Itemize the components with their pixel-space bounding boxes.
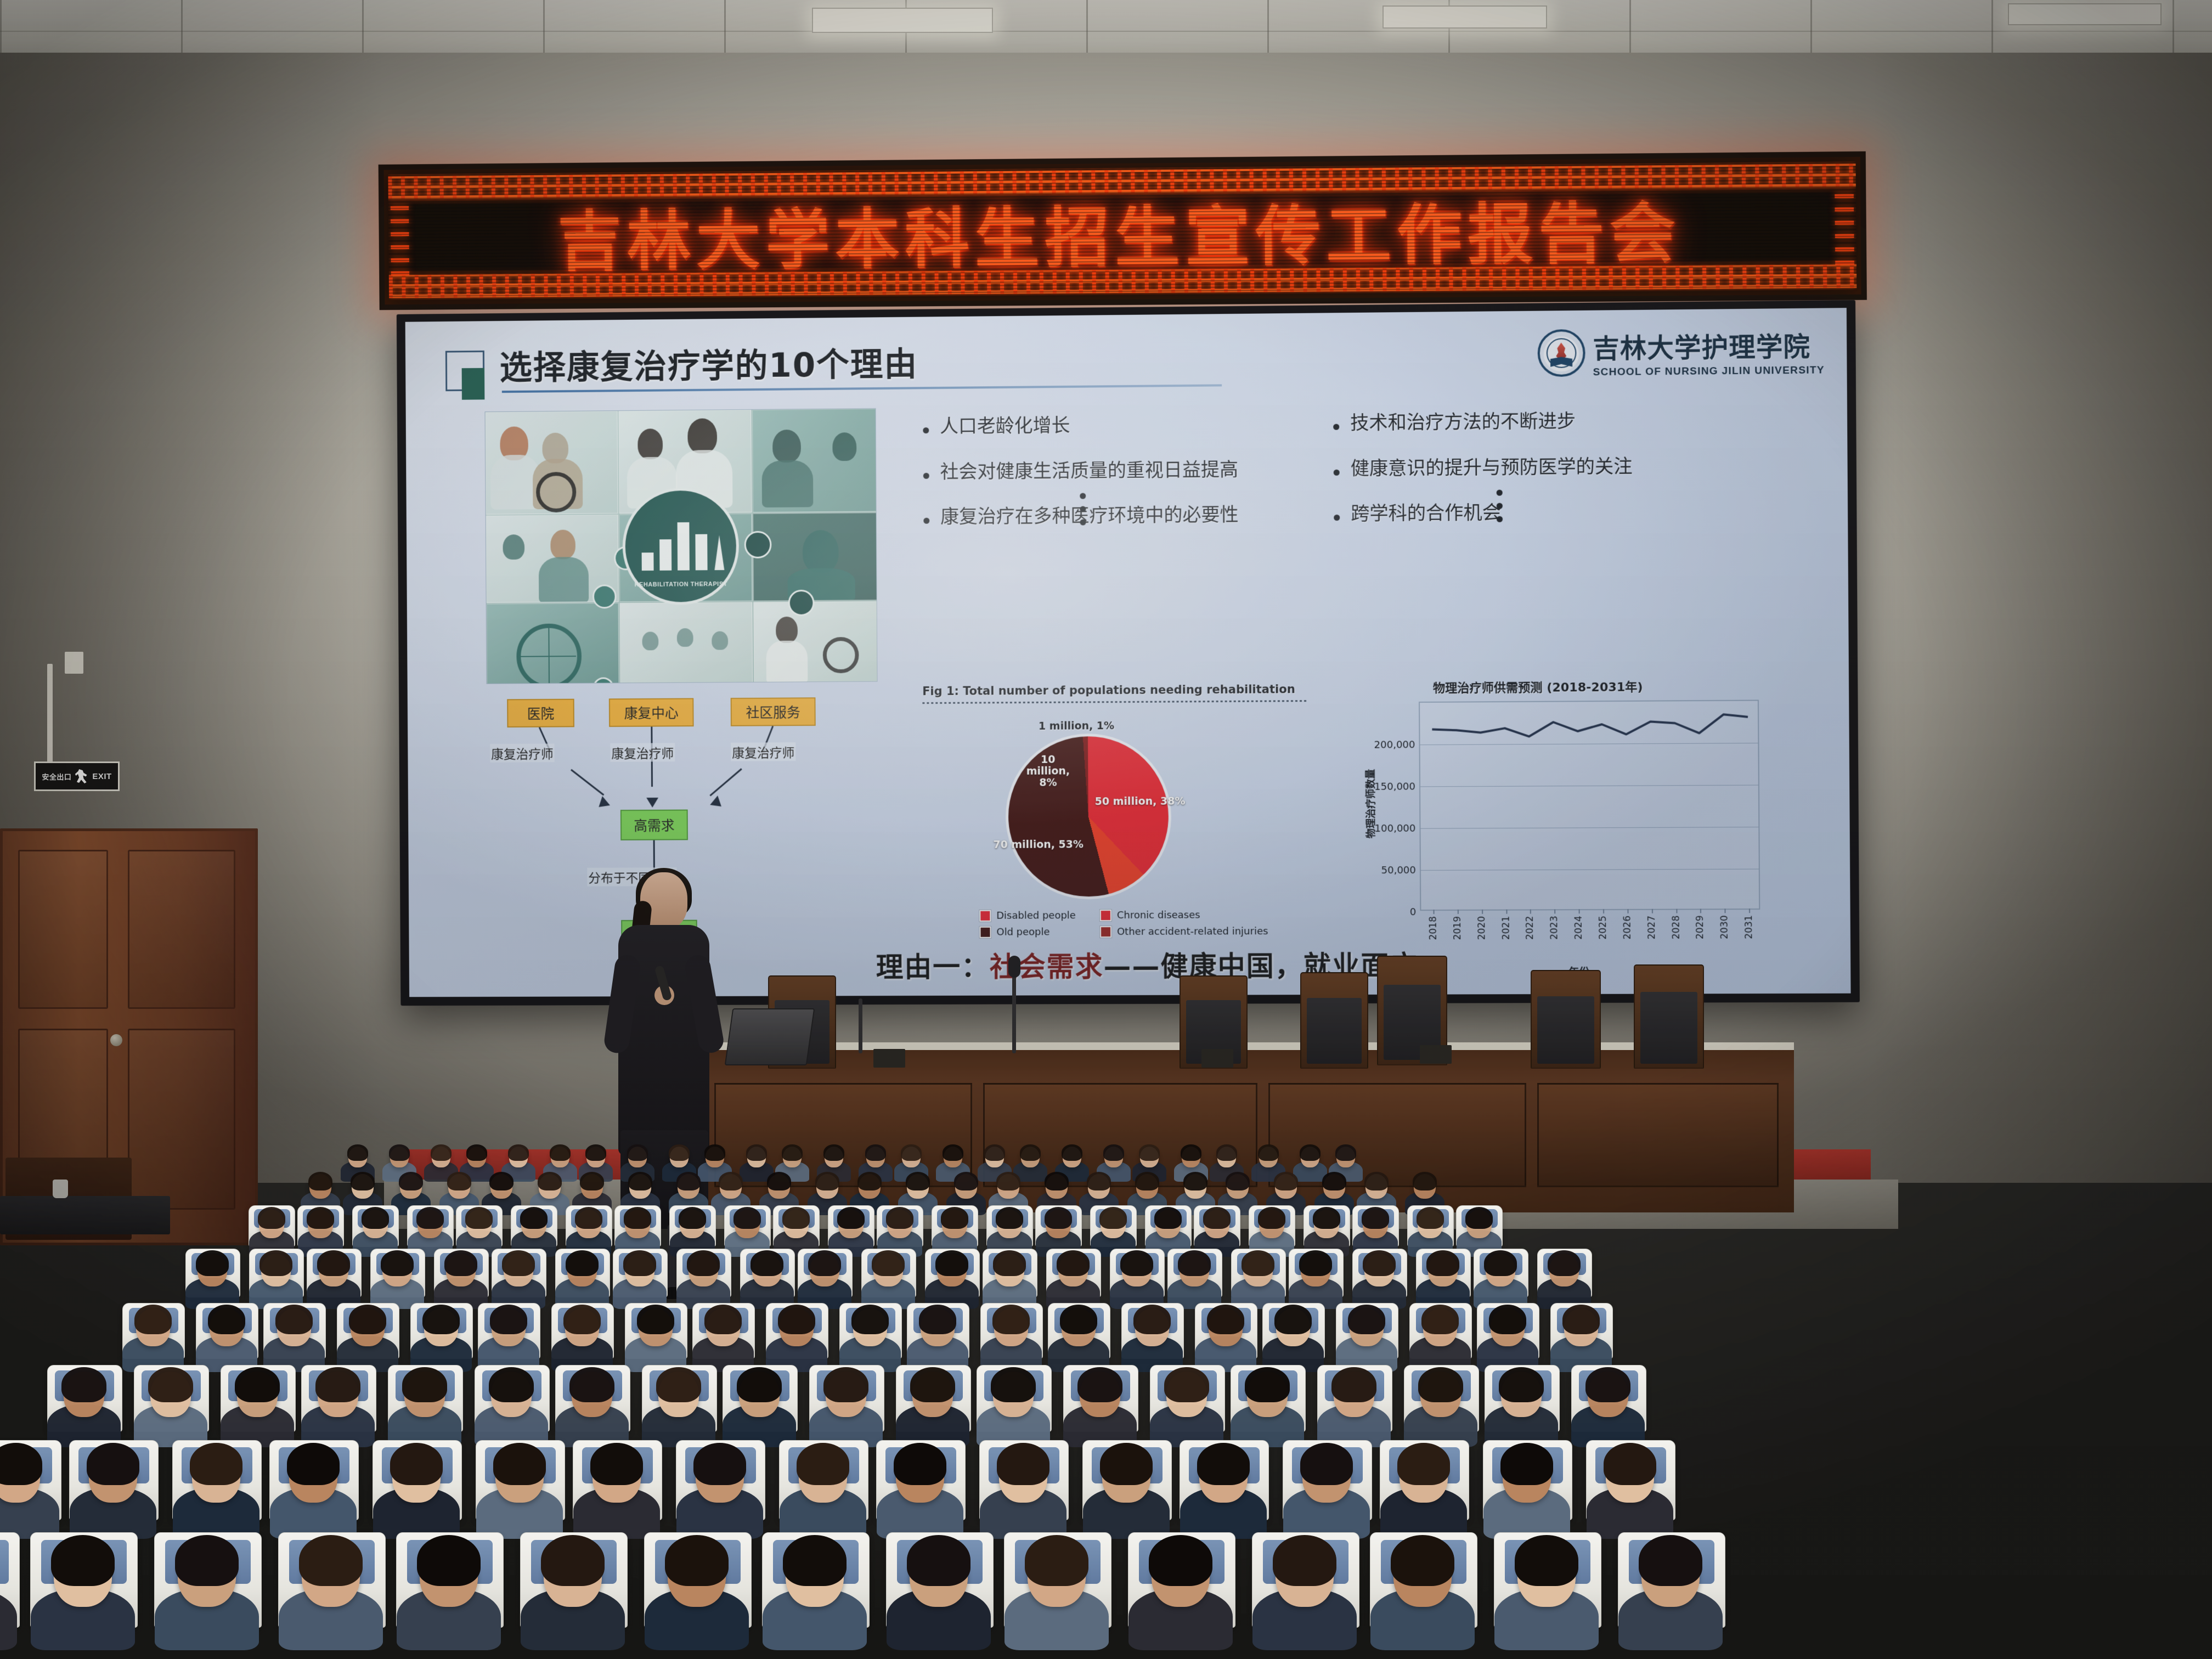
bullet-text: 技术和治疗方法的不断进步	[1350, 412, 1576, 433]
time-badge-icon	[788, 590, 815, 616]
audience-member-hair	[287, 1443, 340, 1485]
audience-member-hair	[402, 1367, 447, 1403]
audience-member-hair	[1299, 1250, 1331, 1276]
legend-item: Old people	[979, 926, 1076, 938]
audience-member-hair	[351, 1172, 375, 1191]
pie-label-other-injuries: 10 million, 8%	[1018, 754, 1078, 788]
audience-member-hair	[808, 1250, 840, 1276]
paper-cup	[53, 1180, 68, 1198]
audience-member-hair	[87, 1443, 140, 1485]
audience-member-hair	[1045, 1207, 1073, 1229]
pie-chart-title-rule	[922, 700, 1306, 704]
door-knob[interactable]	[110, 1034, 122, 1046]
audience-member-hair	[1120, 1250, 1153, 1276]
audience-member-hair	[737, 1367, 781, 1403]
audience-member-hair	[1313, 1207, 1341, 1229]
legend-swatch-icon	[979, 910, 991, 922]
audience-member-hair	[851, 1305, 889, 1334]
rehabilitation-collage-image: REHABILITATION THERAPIST	[485, 408, 878, 684]
stage-chair	[1300, 972, 1368, 1069]
audience-member-hair	[665, 1535, 729, 1586]
audience-member-hair	[1562, 1305, 1600, 1334]
audience-member-hair	[1183, 1172, 1207, 1191]
flow-arrowhead-right	[710, 795, 725, 811]
led-banner: 吉林大学本科生招生宣传工作报告会	[379, 151, 1867, 310]
audience-member-hair	[538, 1172, 562, 1191]
wall-conduit-bracket	[65, 652, 83, 674]
audience-member-hair	[941, 1207, 969, 1229]
audience-member-hair	[422, 1305, 460, 1334]
audience-member-hair	[1362, 1207, 1390, 1229]
audience-member-hair	[1149, 1535, 1213, 1586]
audience-member-hair	[489, 1367, 533, 1403]
audience-member-hair	[1207, 1305, 1244, 1334]
line-chart-title: 物理治疗师供需预测 (2018-2031年)	[1433, 677, 1643, 696]
bullet-list-right: 技术和治疗方法的不断进步 健康意识的提升与预防医学的关注 跨学科的合作机会	[1333, 410, 1733, 550]
ellipsis-right-icon	[1497, 490, 1503, 522]
audience-member-hair	[1363, 1250, 1395, 1276]
audience-member-hair	[782, 1144, 802, 1161]
audience-member-hair	[628, 1172, 652, 1191]
audience-member-hair	[996, 1172, 1020, 1191]
flow-node-community-service: 社区服务	[731, 697, 816, 726]
audience-member-hair	[783, 1535, 847, 1586]
flow-arrowhead-left	[595, 796, 610, 811]
bullet-item: 康复治疗在多种医疗环境中的必要性	[923, 505, 1307, 528]
headline-emphasis: 社会需求	[990, 951, 1104, 983]
audience-member-hair	[196, 1250, 228, 1276]
audience-member-hair	[1465, 1207, 1493, 1229]
audience-member-hair	[919, 1305, 956, 1334]
audience-member-hair	[943, 1144, 963, 1161]
nameplate	[873, 1049, 905, 1068]
audience-member-hair	[349, 1305, 386, 1334]
line-chart-x-tick: 2023	[1549, 916, 1560, 940]
audience-member-hair	[1245, 1367, 1289, 1403]
bullet-item: 技术和治疗方法的不断进步	[1333, 410, 1731, 433]
flow-edge-label-right: 康复治疗师	[731, 742, 795, 761]
ceiling-light	[812, 8, 993, 33]
legend-label: Chronic diseases	[1117, 910, 1200, 922]
audience-member-hair	[1274, 1305, 1312, 1334]
audience-member-hair	[258, 1207, 286, 1229]
audience-member-hair	[585, 1144, 606, 1161]
audience-member-hair	[1322, 1172, 1346, 1191]
bullet-dot-icon	[923, 427, 929, 433]
audience-member-hair	[61, 1367, 106, 1403]
headline-suffix: ——健康中国，就业面广	[1103, 950, 1418, 983]
audience-member-hair	[1300, 1144, 1320, 1161]
line-chart-y-tick: 200,000	[1374, 739, 1415, 751]
audience-member-hair	[1258, 1207, 1286, 1229]
pie-chart-title: Fig 1: Total number of populations needi…	[922, 682, 1295, 698]
audience-member-hair	[1062, 1144, 1082, 1161]
audience-member-hair	[381, 1250, 413, 1276]
audience-member-hair	[444, 1250, 477, 1276]
audience-member-hair	[1417, 1207, 1444, 1229]
audience-member-hair	[797, 1443, 850, 1485]
flow-node-label: 医院	[527, 703, 555, 723]
location-pin-badge-icon	[592, 584, 617, 608]
line-chart-x-tick: 2022	[1525, 916, 1536, 940]
legend-label: Old people	[996, 926, 1049, 938]
legend-item: Other accident-related injuries	[1100, 926, 1268, 938]
bullet-text: 社会对健康生活质量的重视日益提高	[940, 460, 1239, 482]
led-scanlines	[388, 161, 1857, 300]
university-seal-icon	[1537, 329, 1585, 377]
hand-badge-icon	[744, 531, 772, 558]
audience-member-hair	[1331, 1367, 1376, 1403]
audience-member-hair	[1426, 1250, 1459, 1276]
audience-member-hair	[1154, 1207, 1182, 1229]
pie-label-chronic: 50 million, 38%	[1095, 795, 1186, 808]
audience-member-hair	[389, 1144, 409, 1161]
flow-node-hospital: 医院	[507, 699, 574, 727]
audience-member-hair	[307, 1207, 335, 1229]
flow-node-rehab-center: 康复中心	[609, 698, 694, 727]
audience-member-hair	[1639, 1535, 1703, 1586]
side-table	[0, 1196, 170, 1234]
audience-member-hair	[1335, 1144, 1356, 1161]
audience-member-hair	[782, 1207, 810, 1229]
audience-member-hair	[687, 1250, 719, 1276]
audience-member-hair	[1500, 1443, 1554, 1485]
audience-member-hair	[550, 1144, 570, 1161]
collage-hub: REHABILITATION THERAPIST	[622, 488, 739, 606]
audience-member-hair	[906, 1172, 930, 1191]
bullet-dot-icon	[1334, 469, 1340, 475]
audience-member-hair	[1133, 1305, 1171, 1334]
audience-member-hair	[580, 1172, 604, 1191]
legend-item: Disabled people	[979, 910, 1076, 922]
line-chart-x-tick: 2021	[1500, 916, 1511, 940]
audience-member-hair	[1364, 1172, 1389, 1191]
audience-member-hair	[590, 1443, 644, 1485]
audience-member-hair	[575, 1207, 603, 1229]
audience-member-hair	[907, 1535, 971, 1586]
audience-member-hair	[566, 1250, 598, 1276]
line-chart-y-tick: 150,000	[1374, 781, 1415, 792]
audience-member-hair	[823, 1144, 844, 1161]
audience-member-hair	[148, 1367, 193, 1403]
audience-member-hair	[51, 1535, 115, 1586]
audience-member-hair	[465, 1207, 493, 1229]
flow-node-high-demand: 高需求	[620, 810, 688, 840]
audience-member-hair	[489, 1172, 513, 1191]
microphone-head	[1008, 956, 1020, 978]
audience-member-hair	[317, 1250, 349, 1276]
collage-center-label: REHABILITATION THERAPIST	[625, 581, 736, 588]
school-logo: 吉林大学护理学院 SCHOOL OF NURSING JILIN UNIVERS…	[1537, 325, 1825, 379]
audience-member-hair	[679, 1207, 707, 1229]
audience-member-hair	[1103, 1144, 1124, 1161]
bullet-item: 健康意识的提升与预防医学的关注	[1334, 456, 1732, 479]
bullet-text: 康复治疗在多种医疗环境中的必要性	[940, 506, 1239, 528]
audience-member-hair	[416, 1207, 444, 1229]
audience-member-hair	[837, 1207, 865, 1229]
audience-member-hair	[1197, 1443, 1250, 1485]
audience-member-hair	[1258, 1144, 1278, 1161]
audience-member-hair	[656, 1367, 701, 1403]
audience-member-hair	[1203, 1207, 1231, 1229]
audience-member-hair	[637, 1305, 674, 1334]
audience-member-hair	[259, 1250, 292, 1276]
audience-member-hair	[733, 1207, 761, 1229]
ceiling-light	[1383, 5, 1547, 29]
audience-member-hair	[815, 1172, 839, 1191]
flow-node-label: 康复中心	[624, 703, 679, 723]
audience-member-hair	[935, 1250, 968, 1276]
legend-swatch-icon	[1100, 910, 1111, 921]
headline-prefix: 理由一：	[876, 951, 990, 983]
audience-member-hair	[1020, 1144, 1040, 1161]
audience-member-hair	[390, 1443, 443, 1485]
audience-member-hair	[676, 1172, 701, 1191]
audience-member-hair	[1057, 1250, 1089, 1276]
audience-member-hair	[1045, 1172, 1069, 1191]
audience-member-hair	[299, 1535, 363, 1586]
audience-member-hair	[1135, 1172, 1159, 1191]
audience-member-hair	[823, 1367, 868, 1403]
audience-member-hair	[693, 1443, 747, 1485]
audience-member-hair	[669, 1144, 689, 1161]
audience-member-hair	[1139, 1144, 1159, 1161]
audience-member-hair	[910, 1367, 955, 1403]
bullet-list-left: 人口老龄化增长 社会对健康生活质量的重视日益提高 康复治疗在多种医疗环境中的必要…	[923, 414, 1307, 554]
audience-member-hair	[704, 1144, 725, 1161]
audience-member-hair	[1060, 1305, 1097, 1334]
line-chart-y-tick: 50,000	[1381, 864, 1415, 876]
audience-member-hair	[1300, 1443, 1353, 1485]
audience-member-hair	[466, 1144, 487, 1161]
audience-member-hair	[275, 1305, 313, 1334]
audience-member-hair	[1489, 1305, 1526, 1334]
audience-member-hair	[1100, 1443, 1153, 1485]
line-chart-x-tick: 2031	[1743, 915, 1755, 939]
audience-member-hair	[1418, 1367, 1463, 1403]
bullet-item: 社会对健康生活质量的重视日益提高	[923, 460, 1307, 482]
audience-member-hair	[1226, 1172, 1250, 1191]
line-chart-y-tick: 0	[1410, 906, 1417, 918]
audience-member-hair	[1164, 1367, 1209, 1403]
audience-member-hair	[308, 1172, 332, 1191]
line-chart-y-tick: 100,000	[1375, 822, 1416, 834]
audience-member-hair	[624, 1207, 652, 1229]
audience-member-hair	[704, 1305, 742, 1334]
bullet-text: 健康意识的提升与预防医学的关注	[1351, 457, 1633, 479]
audience-member-hair	[886, 1207, 914, 1229]
audience-member-hair	[417, 1535, 481, 1586]
title-marker-fill-icon	[462, 368, 485, 400]
flow-node-label: 社区服务	[746, 702, 800, 721]
audience-member-hair	[1242, 1250, 1274, 1276]
audience-member-hair	[894, 1443, 947, 1485]
bullet-dot-icon	[923, 518, 929, 524]
audience-member-hair	[1391, 1535, 1455, 1586]
audience-member-hair	[996, 1207, 1024, 1229]
book-icon	[1550, 357, 1572, 366]
flow-edge-label-left: 康复治疗师	[490, 743, 555, 762]
audience-member-hair	[175, 1535, 239, 1586]
audience-member-hair	[347, 1144, 368, 1161]
audience-member-hair	[984, 1144, 1005, 1161]
bullet-dot-icon	[1333, 424, 1339, 430]
wall-conduit	[47, 664, 53, 774]
hub-bar-chart-icon	[641, 520, 723, 571]
audience-member-hair	[1087, 1172, 1111, 1191]
audience-member-hair	[563, 1305, 601, 1334]
line-chart-x-tick: 2020	[1476, 916, 1487, 940]
audience-member-hair	[569, 1367, 614, 1403]
legend-label: Disabled people	[996, 910, 1076, 921]
bullet-item: 跨学科的合作机会	[1334, 502, 1732, 524]
stage-chair	[1531, 970, 1601, 1069]
audience-member-hair	[1025, 1535, 1089, 1586]
flow-node-label: 高需求	[634, 815, 674, 835]
audience-member-hair	[627, 1144, 647, 1161]
line-chart-series	[1420, 701, 1761, 912]
audience-member-hair	[901, 1144, 921, 1161]
logo-label-en: SCHOOL OF NURSING JILIN UNIVERSITY	[1593, 364, 1825, 379]
nameplate	[1201, 1049, 1233, 1068]
line-chart-x-tick: 2030	[1719, 915, 1731, 939]
audience-member-hair	[208, 1305, 245, 1334]
audience-member-hair	[1515, 1535, 1579, 1586]
exit-sign-label-en: EXIT	[92, 772, 111, 781]
slide-title: 选择康复治疗学的10个理由	[499, 338, 918, 390]
audience-member-hair	[362, 1207, 390, 1229]
line-chart-x-tick: 2028	[1671, 916, 1681, 940]
audience-member-hair	[751, 1250, 783, 1276]
flow-edge-right-lower	[709, 768, 742, 796]
audience-member-hair	[490, 1305, 527, 1334]
ellipsis-left-icon	[1080, 493, 1086, 526]
audience-member-hair	[954, 1172, 978, 1191]
audience-member-hair	[992, 1305, 1030, 1334]
exit-sign: 安全出口 EXIT	[34, 761, 120, 791]
stage-chair	[1634, 964, 1704, 1069]
audience-member-hair	[778, 1305, 815, 1334]
audience-member-hair	[315, 1367, 360, 1403]
audience-member-hair	[767, 1172, 791, 1191]
audience-member-hair	[447, 1172, 471, 1191]
audience-member-hair	[431, 1144, 451, 1161]
audience-member-hair	[508, 1144, 528, 1161]
audience-member-hair	[520, 1207, 548, 1229]
exit-sign-label-cn: 安全出口	[42, 771, 71, 782]
bullet-item: 人口老龄化增长	[923, 414, 1307, 437]
microphone-stand	[1012, 971, 1016, 1053]
bullet-dot-icon	[1334, 515, 1340, 521]
audience-member-hair	[991, 1367, 1035, 1403]
audience-member-hair	[235, 1367, 279, 1403]
bullet-text: 跨学科的合作机会	[1351, 504, 1501, 524]
audience-member-hair	[399, 1172, 423, 1191]
flow-edge-label-mid: 康复治疗师	[610, 743, 675, 761]
audience-member-hair	[1499, 1367, 1543, 1403]
audience-member-hair	[1548, 1250, 1580, 1276]
legend-label: Other accident-related injuries	[1117, 926, 1268, 938]
audience-member-hair	[1604, 1443, 1657, 1485]
audience-member-hair	[1273, 1535, 1337, 1586]
audience-member-hair	[1585, 1367, 1630, 1403]
audience-member-hair	[993, 1250, 1025, 1276]
line-chart-x-tick: 2018	[1427, 916, 1438, 940]
audience-member-hair	[1077, 1367, 1122, 1403]
audience-member-hair	[1274, 1172, 1298, 1191]
laptop[interactable]	[725, 1008, 815, 1065]
microphone-stand	[859, 998, 862, 1053]
audience-member-hair	[865, 1144, 885, 1161]
audience-member-hair	[541, 1535, 605, 1586]
pie-legend: Disabled people Chronic diseases Old peo…	[979, 909, 1268, 938]
audience-member-hair	[872, 1250, 904, 1276]
audience-member-hair	[623, 1250, 656, 1276]
logo-label-cn: 吉林大学护理学院	[1593, 325, 1825, 365]
line-chart-x-tick: 2027	[1646, 916, 1657, 940]
audience-member-hair	[1484, 1250, 1516, 1276]
audience-member-hair	[1397, 1443, 1451, 1485]
audience-member-hair	[1178, 1250, 1210, 1276]
bullet-dot-icon	[923, 473, 929, 479]
audience-member-hair	[1099, 1207, 1127, 1229]
line-chart-plot: 050,000100,000150,000200,000201820192020…	[1419, 700, 1760, 911]
audience-member-hair	[190, 1443, 243, 1485]
audience-member-hair	[719, 1172, 743, 1191]
audience-member-hair	[1413, 1172, 1437, 1191]
line-chart-x-tick: 2029	[1695, 915, 1706, 939]
audience-member-hair	[1421, 1305, 1459, 1334]
ceiling-light	[2008, 3, 2162, 25]
audience-member-hair	[746, 1144, 766, 1161]
line-chart-x-tick: 2025	[1598, 916, 1609, 940]
audience-member-hair	[857, 1172, 882, 1191]
hub-growth-arrow-icon	[714, 535, 724, 570]
pie-label-disabled: 1 million, 1%	[1039, 720, 1114, 732]
legend-item: Chronic diseases	[1100, 909, 1268, 921]
audience-member-hair	[997, 1443, 1050, 1485]
legend-swatch-icon	[1100, 926, 1111, 938]
audience-member-hair	[1348, 1305, 1385, 1334]
bullet-text: 人口老龄化增长	[940, 416, 1070, 437]
flow-arrowhead-mid	[646, 798, 658, 808]
line-chart-x-tick: 2024	[1573, 916, 1584, 940]
audience-member-hair	[502, 1250, 534, 1276]
nameplate	[1420, 1045, 1452, 1064]
audience-member-hair	[1216, 1144, 1237, 1161]
wall-right-shading	[1872, 53, 2212, 1183]
flow-edge-left-lower	[571, 769, 604, 796]
lecture-hall-photo: 安全出口 EXIT 吉林大学本科生招生宣传工作报告会 选择康复治疗学的10个理由	[0, 0, 2212, 1659]
legend-swatch-icon	[979, 927, 991, 938]
running-person-icon	[75, 769, 89, 783]
line-chart-x-tick: 2026	[1622, 916, 1633, 940]
pie-label-old-people: 70 million, 53%	[993, 838, 1084, 851]
line-chart-x-tick: 2019	[1452, 916, 1463, 940]
audience-member-hair	[1181, 1144, 1201, 1161]
audience-member-hair	[134, 1305, 172, 1334]
audience-member-hair	[493, 1443, 546, 1485]
